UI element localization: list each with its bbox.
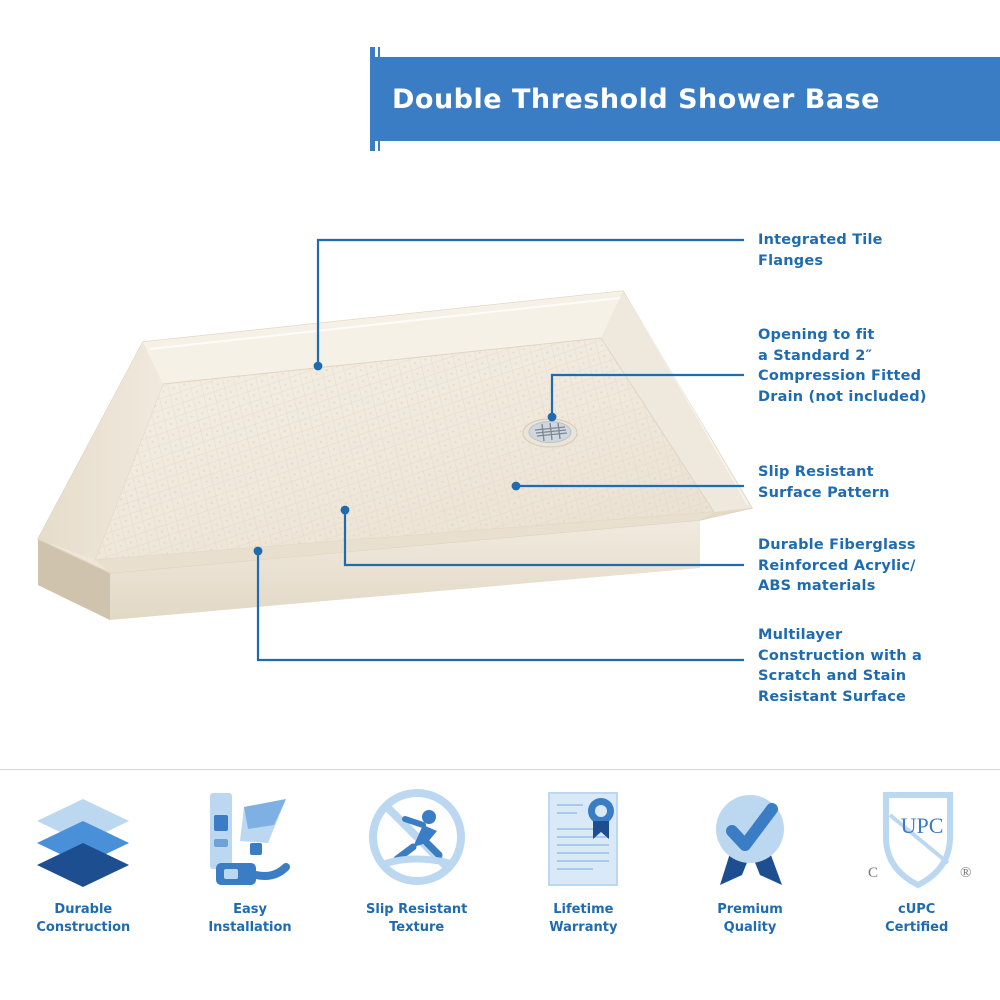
callout-line: Flanges bbox=[758, 251, 883, 272]
svg-text:UPC: UPC bbox=[900, 813, 943, 838]
leader-drain-opening bbox=[552, 375, 744, 415]
caption-line: Slip Resistant bbox=[366, 901, 467, 919]
caption-line: Easy bbox=[208, 901, 291, 919]
callout-line: Durable Fiberglass bbox=[758, 535, 916, 556]
svg-text:®: ® bbox=[960, 865, 971, 881]
svg-text:C: C bbox=[868, 865, 878, 881]
layers-icon bbox=[18, 785, 148, 895]
callout-line: Drain (not included) bbox=[758, 387, 927, 408]
leader-durable-materials bbox=[345, 512, 744, 565]
caption-line: Durable bbox=[36, 901, 130, 919]
leader-multilayer bbox=[258, 553, 744, 660]
caption-line: Installation bbox=[208, 919, 291, 937]
feature-caption: Slip Resistant Texture bbox=[366, 901, 467, 936]
callout-drain-opening: Opening to fit a Standard 2″ Compression… bbox=[758, 325, 927, 407]
callout-integrated-tile-flanges: Integrated Tile Flanges bbox=[758, 230, 883, 271]
level-trowel-icon bbox=[185, 785, 315, 895]
caption-line: Lifetime bbox=[549, 901, 617, 919]
caption-line: Texture bbox=[366, 919, 467, 937]
callout-multilayer-construction: Multilayer Construction with a Scratch a… bbox=[758, 625, 922, 707]
caption-line: Premium bbox=[717, 901, 783, 919]
warranty-document-icon bbox=[518, 785, 648, 895]
callout-line: Slip Resistant bbox=[758, 462, 890, 483]
feature-caption: Premium Quality bbox=[717, 901, 783, 936]
callout-line: Multilayer bbox=[758, 625, 922, 646]
leader-integrated-tile-flanges bbox=[318, 240, 744, 364]
callout-line: Reinforced Acrylic/ bbox=[758, 556, 916, 577]
feature-strip: Durable Construction bbox=[0, 785, 1000, 965]
callout-slip-resistant-surface-pattern: Slip Resistant Surface Pattern bbox=[758, 462, 890, 503]
callout-line: Opening to fit bbox=[758, 325, 927, 346]
caption-line: Construction bbox=[36, 919, 130, 937]
checkmark-ribbon-icon bbox=[685, 785, 815, 895]
feature-caption: Easy Installation bbox=[208, 901, 291, 936]
caption-line: Quality bbox=[717, 919, 783, 937]
product-infographic: Double Threshold Shower Base bbox=[0, 0, 1000, 1000]
upc-shield-icon: UPC C ® bbox=[852, 785, 982, 895]
feature-premium-quality: Premium Quality bbox=[667, 785, 834, 965]
caption-line: Warranty bbox=[549, 919, 617, 937]
feature-caption: Durable Construction bbox=[36, 901, 130, 936]
feature-cupc-certified: UPC C ® cUPC Certified bbox=[833, 785, 1000, 965]
caption-line: Certified bbox=[885, 919, 948, 937]
callout-line: Surface Pattern bbox=[758, 483, 890, 504]
feature-lifetime-warranty: Lifetime Warranty bbox=[500, 785, 667, 965]
page-title: Double Threshold Shower Base bbox=[370, 84, 880, 115]
no-slip-icon bbox=[352, 785, 482, 895]
callout-line: Integrated Tile bbox=[758, 230, 883, 251]
section-divider bbox=[0, 769, 1000, 770]
callout-line: a Standard 2″ bbox=[758, 346, 927, 367]
feature-caption: Lifetime Warranty bbox=[549, 901, 617, 936]
callout-line: Construction with a bbox=[758, 646, 922, 667]
callout-line: ABS materials bbox=[758, 576, 916, 597]
feature-caption: cUPC Certified bbox=[885, 901, 948, 936]
feature-easy-installation: Easy Installation bbox=[167, 785, 334, 965]
callout-durable-materials: Durable Fiberglass Reinforced Acrylic/ A… bbox=[758, 535, 916, 597]
feature-slip-resistant-texture: Slip Resistant Texture bbox=[333, 785, 500, 965]
callout-line: Scratch and Stain bbox=[758, 666, 922, 687]
callout-line: Resistant Surface bbox=[758, 687, 922, 708]
feature-durable-construction: Durable Construction bbox=[0, 785, 167, 965]
callout-line: Compression Fitted bbox=[758, 366, 927, 387]
title-band: Double Threshold Shower Base bbox=[370, 57, 1000, 141]
caption-line: cUPC bbox=[885, 901, 948, 919]
